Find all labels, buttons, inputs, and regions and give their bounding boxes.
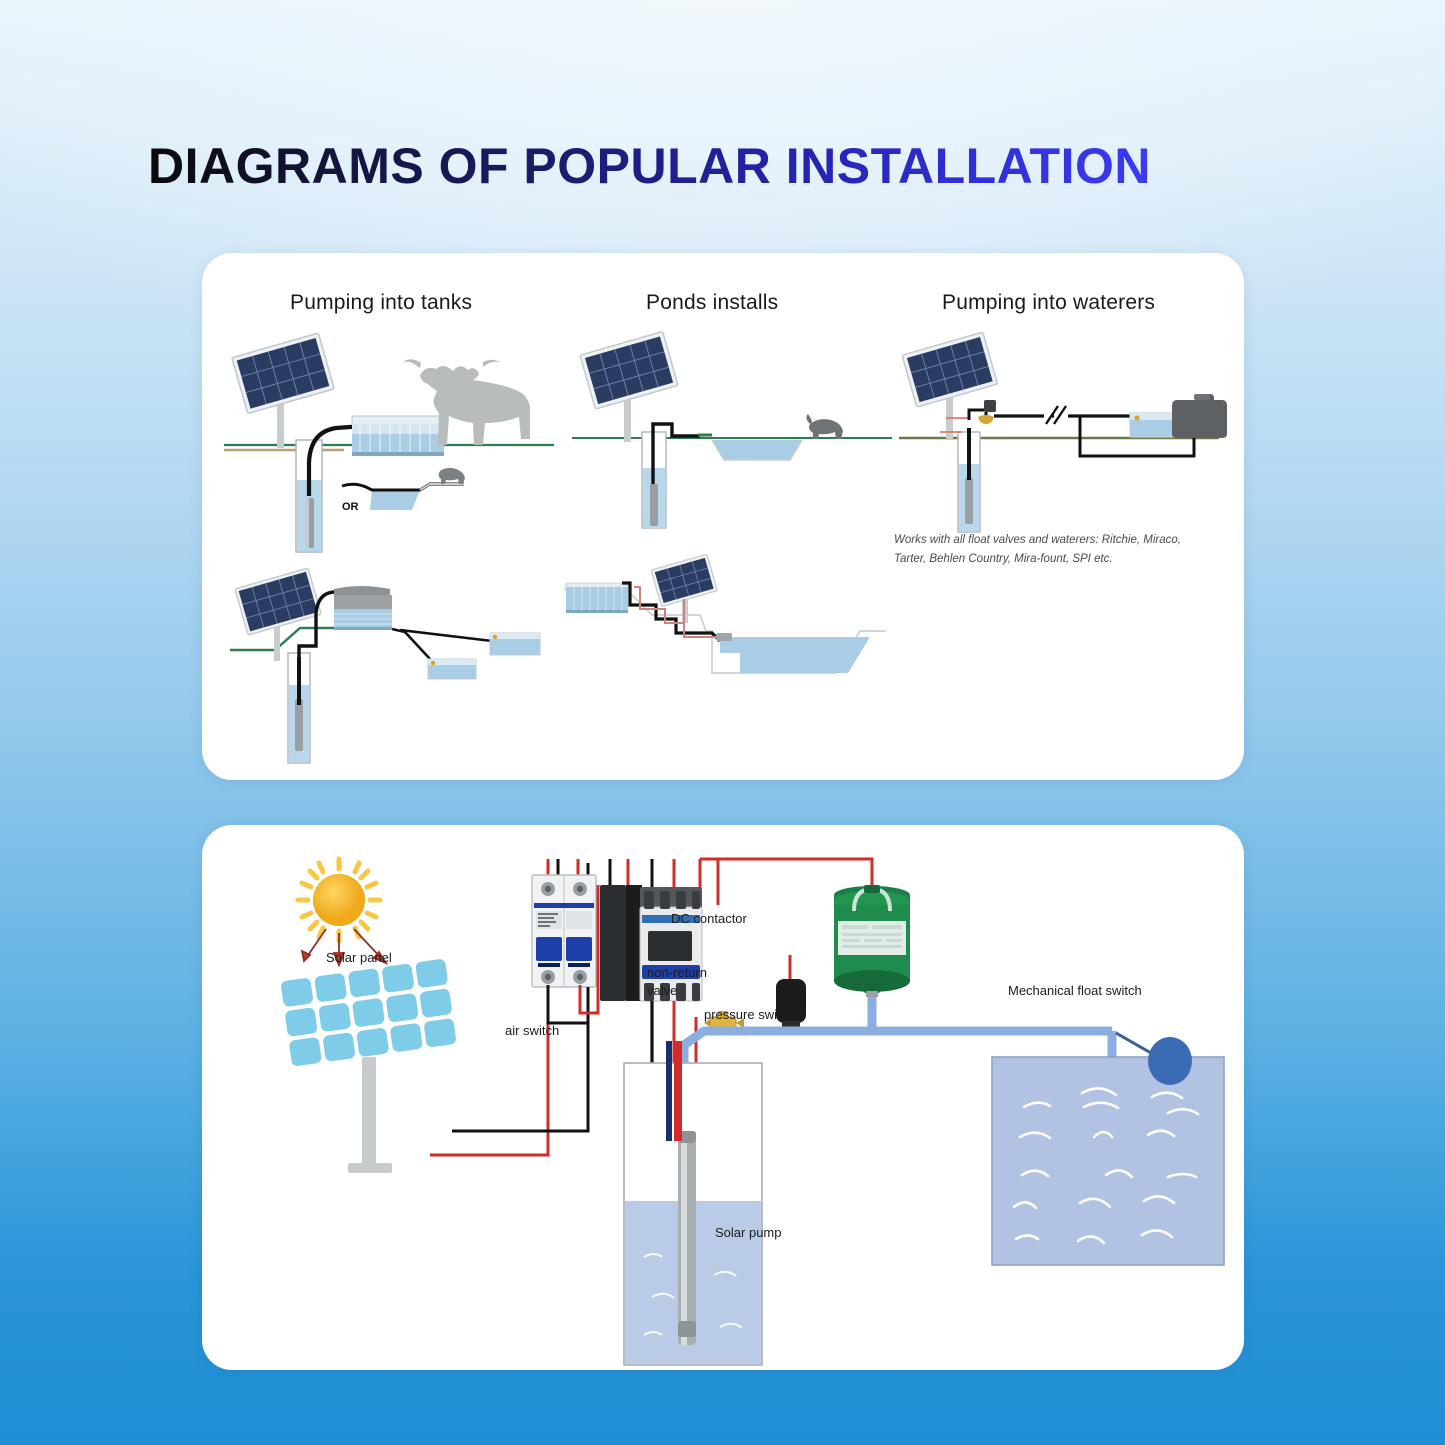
upper-tank	[566, 583, 628, 613]
trough-far	[490, 633, 540, 655]
elevated-tank	[334, 586, 392, 630]
cow-silhouette	[806, 414, 843, 439]
pressure-switch-label: pressure switch	[704, 1007, 794, 1022]
pond	[720, 637, 870, 673]
or-pond	[342, 468, 465, 510]
wiring-schematic-card: Solar panel	[202, 825, 1244, 1370]
diagram-tank-to-troughs	[230, 573, 550, 773]
solar-panel-icon	[902, 332, 998, 440]
inlet-fitting	[716, 633, 732, 641]
installation-diagrams-card: Pumping into tanks Ponds installs Pumpin…	[202, 253, 1244, 780]
diagram-pumping-into-waterers	[894, 328, 1224, 538]
solar-panel-icon	[232, 333, 335, 448]
well-with-pump	[958, 428, 980, 532]
waterer-unit	[1172, 394, 1227, 438]
non-return-valve-label-line2: valve	[647, 983, 677, 998]
air-switch-label: air switch	[505, 1023, 559, 1038]
waterers-caption: Works with all float valves and waterers…	[894, 531, 1194, 569]
diagram-tank-to-pond	[560, 553, 890, 693]
water-tank	[352, 416, 444, 456]
waterers-caption-line1: Works with all float valves and waterers…	[894, 534, 1181, 546]
page-title: DIAGRAMS OF POPULAR INSTALLATION	[148, 137, 1151, 195]
dc-contactor-label: DC contactor	[671, 911, 747, 926]
storage-water-tank	[992, 1057, 1224, 1265]
diagram-heading-waterers: Pumping into waterers	[942, 291, 1155, 315]
pond	[712, 440, 802, 460]
diagram-pumping-into-tanks	[224, 328, 554, 588]
valve-fitting	[984, 400, 996, 412]
pressure-tank-icon	[834, 885, 910, 997]
well-with-pump	[288, 653, 310, 763]
diagram-ponds-installs	[572, 328, 892, 528]
air-switch-breaker	[532, 875, 596, 987]
diagram-heading-tanks: Pumping into tanks	[290, 291, 472, 315]
non-return-valve-label-line1: non-return	[647, 965, 707, 980]
mechanical-float-switch-label: Mechanical float switch	[1008, 983, 1142, 998]
diagram-heading-ponds: Ponds installs	[646, 291, 778, 315]
solar-pump-label: Solar pump	[715, 1225, 781, 1240]
waterers-caption-line2: Tarter, Behlen Country, Mira-fount, SPI …	[894, 553, 1113, 565]
or-label: OR	[342, 501, 359, 513]
wiring-group	[352, 845, 1232, 1365]
trough-near	[428, 659, 476, 679]
